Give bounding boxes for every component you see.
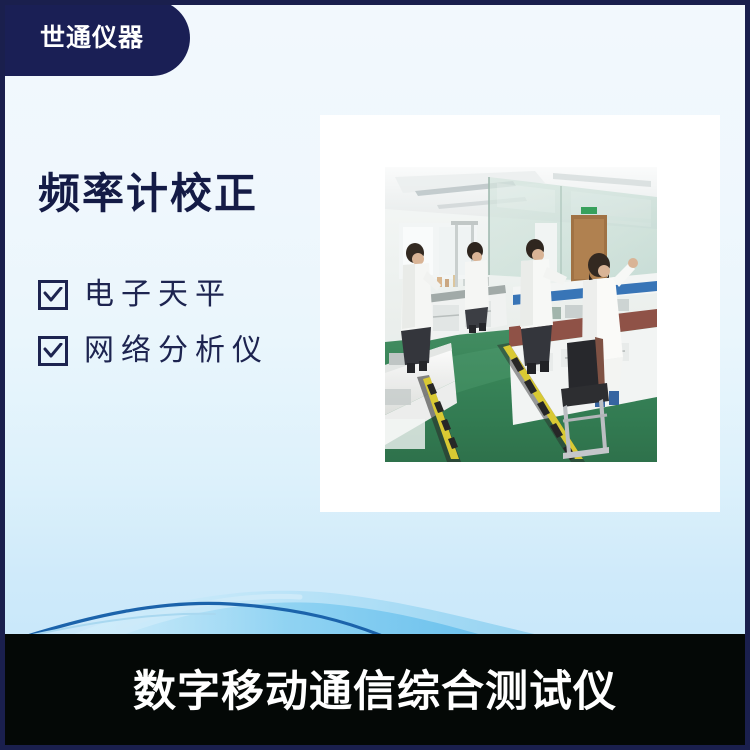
photo-card [320,115,720,512]
left-content-column: 频率计校正 电子天平 网络分析仪 [38,170,328,392]
feature-item-0: 电子天平 [38,280,328,310]
feature-label-0: 电子天平 [84,280,232,310]
bottom-banner: 数字移动通信综合测试仪 [0,634,750,750]
wave-decoration [0,560,750,640]
checkbox-checked-icon [38,336,68,366]
checkbox-checked-icon [38,280,68,310]
brand-name: 世通仪器 [40,26,150,51]
product-poster: 世通仪器 频率计校正 电子天平 网络分析仪 [0,0,750,750]
page-title: 频率计校正 [38,170,328,218]
feature-label-1: 网络分析仪 [84,336,269,366]
bottom-banner-title: 数字移动通信综合测试仪 [133,671,617,714]
brand-badge: 世通仪器 [0,0,190,76]
feature-item-1: 网络分析仪 [38,336,328,366]
feature-list: 电子天平 网络分析仪 [38,280,328,366]
calibration-laboratory-photo [385,167,657,462]
